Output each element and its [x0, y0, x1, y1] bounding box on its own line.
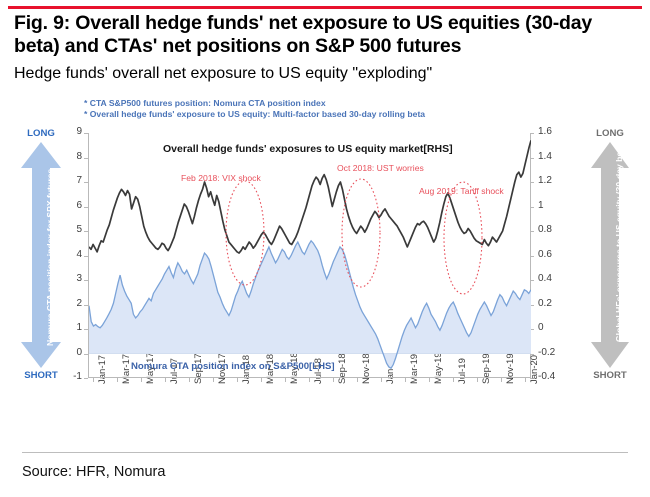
right-tick-label: 1.6 [538, 126, 568, 137]
figure-subtitle: Hedge funds' overall net exposure to US … [14, 64, 638, 84]
left-tick-label: -1 [56, 371, 82, 382]
annotation-aug-2019: Aug 2019: Tariff shock [419, 186, 504, 196]
left-tick-label: 9 [56, 126, 82, 137]
chart-area: LONG Nomura CTA position index for SPX f… [0, 122, 650, 442]
left-tick-label: 0 [56, 347, 82, 358]
x-tick-mark [429, 378, 430, 382]
left-tick-label: 6 [56, 200, 82, 211]
x-tick-mark [381, 378, 382, 382]
plot-series-label-rhs: Overall hedge funds' exposures to US equ… [163, 143, 453, 155]
left-tick-label: 4 [56, 249, 82, 260]
figure-page: Fig. 9: Overall hedge funds' net exposur… [0, 0, 650, 497]
x-tick-mark [309, 378, 310, 382]
left-tick-label: 2 [56, 298, 82, 309]
right-tick-label: 0.8 [538, 224, 568, 235]
annotation-ellipses [89, 133, 531, 378]
x-tick-mark [93, 378, 94, 382]
plot-series-label-lhs: Nomura CTA position index on S&P500[LHS] [131, 361, 335, 372]
x-tick-mark [165, 378, 166, 382]
x-tick-mark [405, 378, 406, 382]
right-tick-label: -0.2 [538, 347, 568, 358]
right-tick-label: 1.4 [538, 151, 568, 162]
footnote-2: * Overall hedge funds' exposure to US eq… [84, 109, 604, 120]
source-note: Source: HFR, Nomura [22, 464, 165, 480]
x-tick-mark [141, 378, 142, 382]
right-tick-label: -0.4 [538, 371, 568, 382]
x-tick-mark [285, 378, 286, 382]
left-tick-label: 8 [56, 151, 82, 162]
x-tick-mark [333, 378, 334, 382]
figure-title: Fig. 9: Overall hedge funds' net exposur… [14, 12, 638, 58]
left-tick-label: 1 [56, 322, 82, 333]
x-tick-mark [189, 378, 190, 382]
right-arrow-shape [584, 142, 636, 368]
right-arrow-long-label: LONG [584, 128, 636, 139]
x-tick-mark [477, 378, 478, 382]
x-tick-mark [213, 378, 214, 382]
x-tick-mark [117, 378, 118, 382]
left-tick-label: 7 [56, 175, 82, 186]
x-tick-mark [261, 378, 262, 382]
footer-divider [22, 452, 628, 453]
x-tick-mark [525, 378, 526, 382]
right-tick-label: 0.6 [538, 249, 568, 260]
right-tick-label: 0.2 [538, 298, 568, 309]
right-arrow-short-label: SHORT [584, 370, 636, 381]
x-tick-mark [237, 378, 238, 382]
right-tick-label: 0.4 [538, 273, 568, 284]
x-tick-mark [453, 378, 454, 382]
right-tick-label: 1.2 [538, 175, 568, 186]
footnote-list: * CTA S&P500 futures position: Nomura CT… [84, 98, 604, 120]
right-tick-label: 0 [538, 322, 568, 333]
right-tick-label: 1 [538, 200, 568, 211]
annotation-oct-2018: Oct 2018: UST worries [337, 163, 424, 173]
footnote-1: * CTA S&P500 futures position: Nomura CT… [84, 98, 604, 109]
left-tick-label: 5 [56, 224, 82, 235]
left-tick-mark [84, 378, 88, 379]
x-tick-mark [357, 378, 358, 382]
left-tick-label: 3 [56, 273, 82, 284]
x-tick-mark [501, 378, 502, 382]
left-axis-title: Nomura CTA position index for SPX future… [45, 169, 55, 346]
top-red-rule [8, 6, 642, 9]
right-axis-arrow: LONG Global HFs' exposures to US equity … [584, 128, 636, 384]
annotation-feb-2018: Feb 2018: VIX shock [181, 173, 261, 183]
plot-region: Overall hedge funds' exposures to US equ… [88, 133, 530, 378]
right-axis-title: Global HFs' exposures to US equity (30-d… [614, 141, 624, 342]
